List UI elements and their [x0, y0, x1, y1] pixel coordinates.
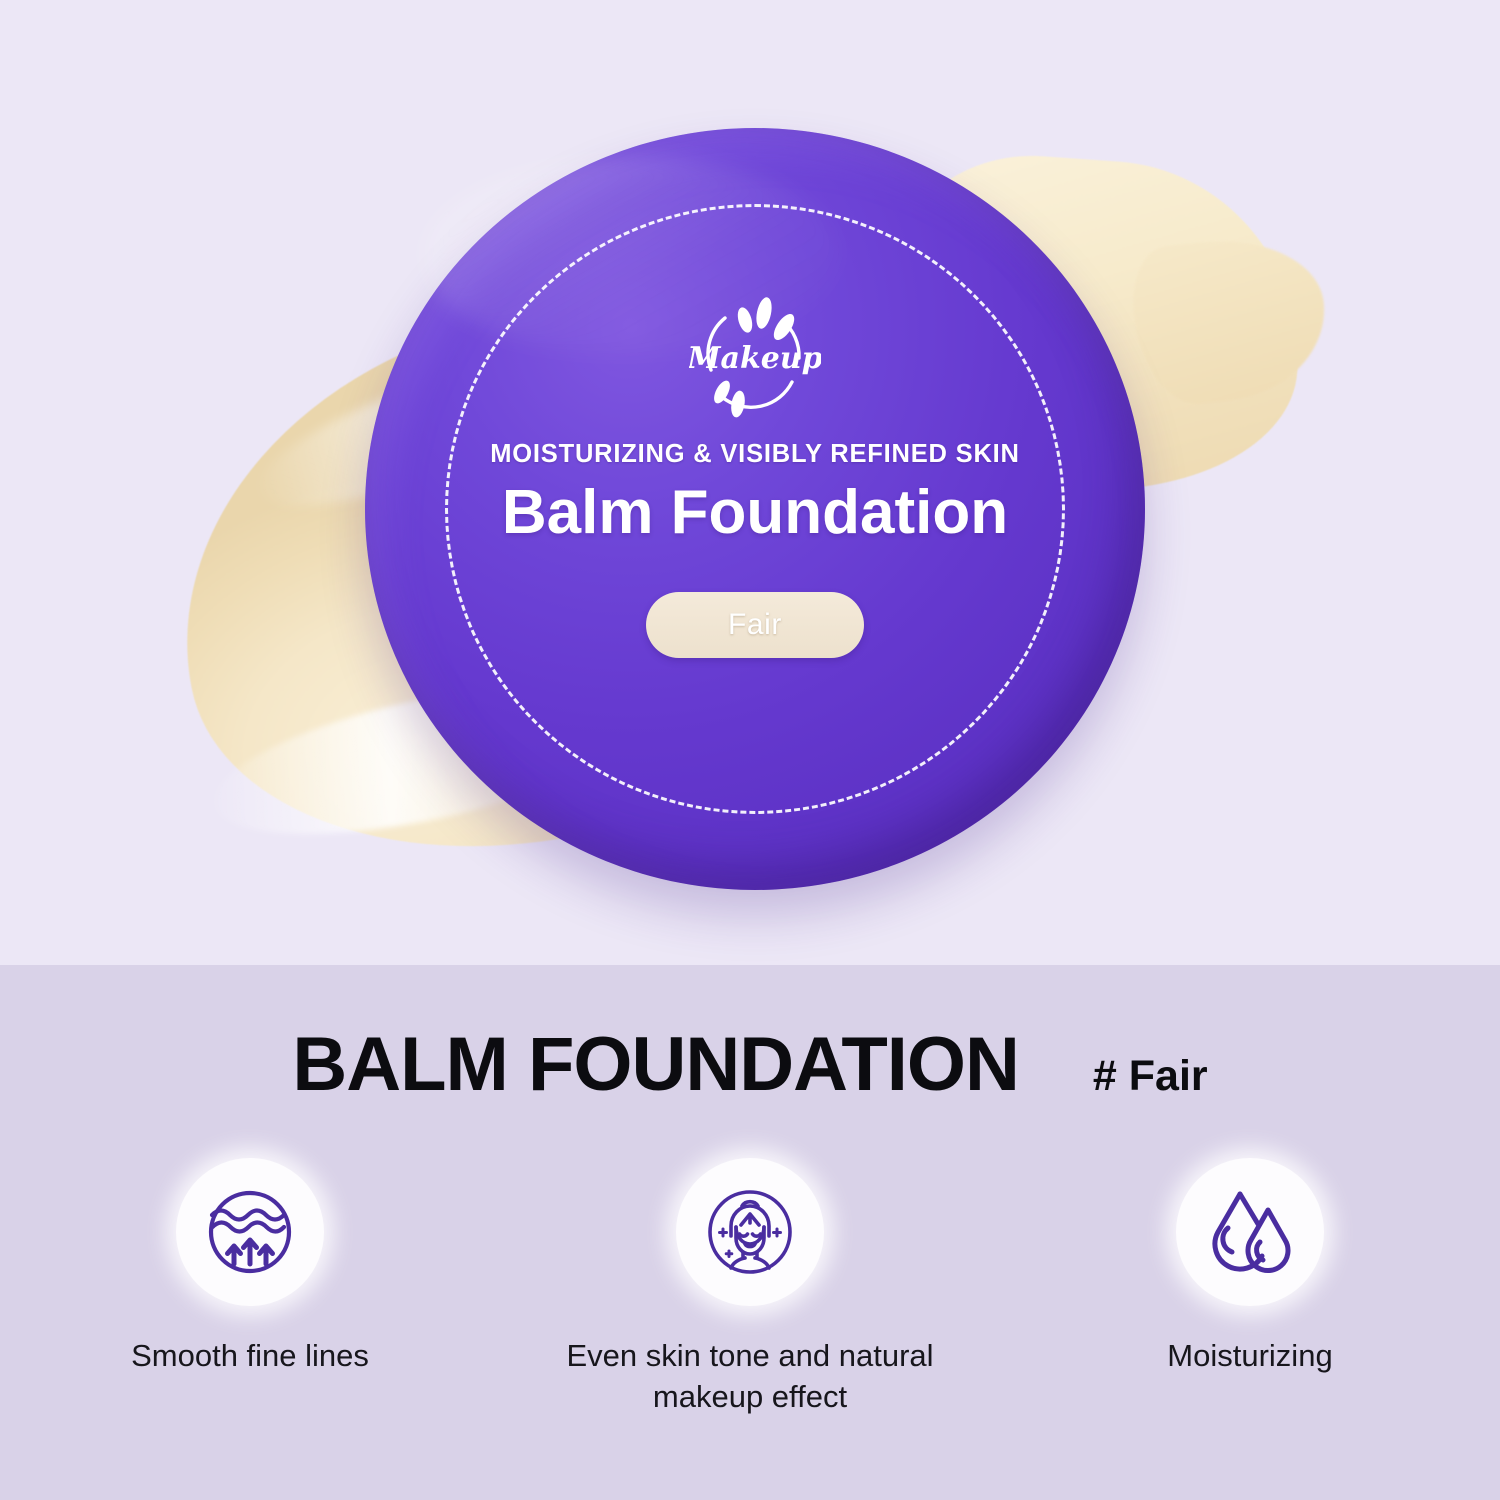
- feature-list: Smooth fine lines: [0, 1158, 1500, 1418]
- jar-tagline: MOISTURIZING & VISIBLY REFINED SKIN: [490, 440, 1020, 469]
- feature-caption: Even skin tone and natural makeup effect: [540, 1336, 960, 1418]
- shade-badge: # Fair: [1093, 1055, 1208, 1098]
- hero-section: Makeup MOISTURIZING & VISIBLY REFINED SK…: [0, 0, 1500, 965]
- product-marketing-page: Makeup MOISTURIZING & VISIBLY REFINED SK…: [0, 0, 1500, 1500]
- logo-wordmark: Makeup: [689, 341, 821, 376]
- water-droplets-icon: [1198, 1180, 1302, 1284]
- jar-product-name: Balm Foundation: [502, 477, 1008, 548]
- page-title: BALM FOUNDATION: [292, 1027, 1019, 1103]
- headline-row: BALM FOUNDATION # Fair: [0, 1027, 1500, 1103]
- feature-item: Smooth fine lines: [0, 1158, 500, 1418]
- feature-icon-badge: [176, 1158, 324, 1306]
- woman-face-sparkle-icon: [698, 1180, 802, 1284]
- feature-item: Moisturizing: [1000, 1158, 1500, 1418]
- jar-label-content: Makeup MOISTURIZING & VISIBLY REFINED SK…: [365, 128, 1145, 890]
- skin-waves-arrows-icon: [198, 1180, 302, 1284]
- balm-foundation-jar[interactable]: Makeup MOISTURIZING & VISIBLY REFINED SK…: [365, 128, 1145, 890]
- feature-caption: Smooth fine lines: [85, 1336, 415, 1377]
- feature-caption: Moisturizing: [1085, 1336, 1415, 1377]
- makeup-script-logo: Makeup: [689, 296, 821, 418]
- feature-icon-badge: [676, 1158, 824, 1306]
- feature-item: Even skin tone and natural makeup effect: [500, 1158, 1000, 1418]
- feature-icon-badge: [1176, 1158, 1324, 1306]
- shade-pill[interactable]: Fair: [646, 592, 864, 658]
- shade-pill-label: Fair: [728, 608, 782, 642]
- features-section: BALM FOUNDATION # Fair: [0, 965, 1500, 1500]
